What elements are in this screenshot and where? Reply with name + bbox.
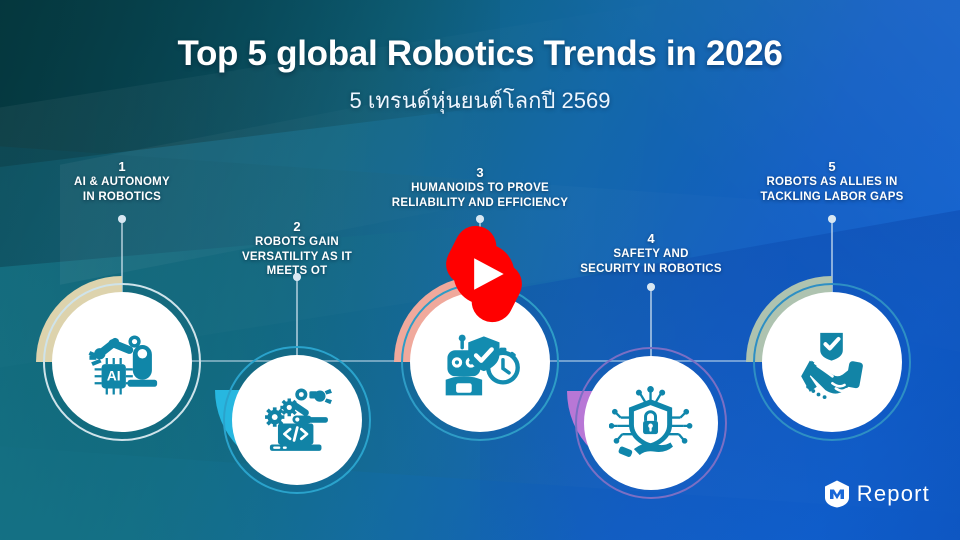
robot-human-handshake-shield-icon <box>789 319 876 406</box>
brand-logo[interactable]: Report <box>824 480 930 508</box>
trend-label-line: ROBOTS AS ALLIES IN <box>707 175 957 190</box>
trend-label-line: IN ROBOTICS <box>0 190 247 205</box>
trend-label-2: 2ROBOTS GAINVERSATILITY AS ITMEETS OT <box>172 218 422 279</box>
trend-label-5: 5ROBOTS AS ALLIES INTACKLING LABOR GAPS <box>707 158 957 204</box>
trend-number: 2 <box>172 218 422 235</box>
m-report-hexagon-logo-icon <box>824 480 850 508</box>
trend-stem-connector <box>650 287 652 356</box>
trend-label-line: HUMANOIDS TO PROVE <box>355 181 605 196</box>
trend-label-line: VERSATILITY AS IT <box>172 250 422 265</box>
trend-number: 3 <box>355 164 605 181</box>
laptop-code-gears-robot-arm-icon <box>257 380 338 461</box>
header: Top 5 global Robotics Trends in 2026 5 เ… <box>0 0 960 118</box>
trend-label-line: TACKLING LABOR GAPS <box>707 190 957 205</box>
trend-number: 1 <box>0 158 247 175</box>
trend-number: 5 <box>707 158 957 175</box>
trend-icon-circle-2[interactable] <box>232 355 362 485</box>
trend-icon-circle-5[interactable] <box>762 292 902 432</box>
trend-label-3: 3HUMANOIDS TO PROVERELIABILITY AND EFFIC… <box>355 164 605 210</box>
trend-number: 4 <box>526 230 776 247</box>
trend-label-4: 4SAFETY ANDSECURITY IN ROBOTICS <box>526 230 776 276</box>
trend-label-line: SAFETY AND <box>526 247 776 262</box>
trend-label-line: RELIABILITY AND EFFICIENCY <box>355 196 605 211</box>
trend-label-line: SECURITY IN ROBOTICS <box>526 262 776 277</box>
trend-icon-circle-1[interactable]: AI <box>52 292 192 432</box>
infographic-canvas: Top 5 global Robotics Trends in 2026 5 เ… <box>0 0 960 540</box>
trend-label-line: AI & AUTONOMY <box>0 175 247 190</box>
robotic-arm-ai-chip-icon: AI <box>79 319 166 406</box>
svg-text:AI: AI <box>106 367 120 383</box>
brand-logo-text: Report <box>857 481 930 507</box>
trend-icon-circle-4[interactable] <box>584 356 718 490</box>
cyber-shield-padlock-hand-icon <box>609 381 692 464</box>
page-title: Top 5 global Robotics Trends in 2026 <box>0 34 960 74</box>
page-subtitle: 5 เทรนด์หุ่นยนต์โลกปี 2569 <box>0 83 960 118</box>
youtube-shorts-icon[interactable] <box>425 215 543 333</box>
trend-label-1: 1AI & AUTONOMYIN ROBOTICS <box>0 158 247 204</box>
trend-stem-connector <box>296 277 298 355</box>
trend-label-line: ROBOTS GAIN <box>172 235 422 250</box>
